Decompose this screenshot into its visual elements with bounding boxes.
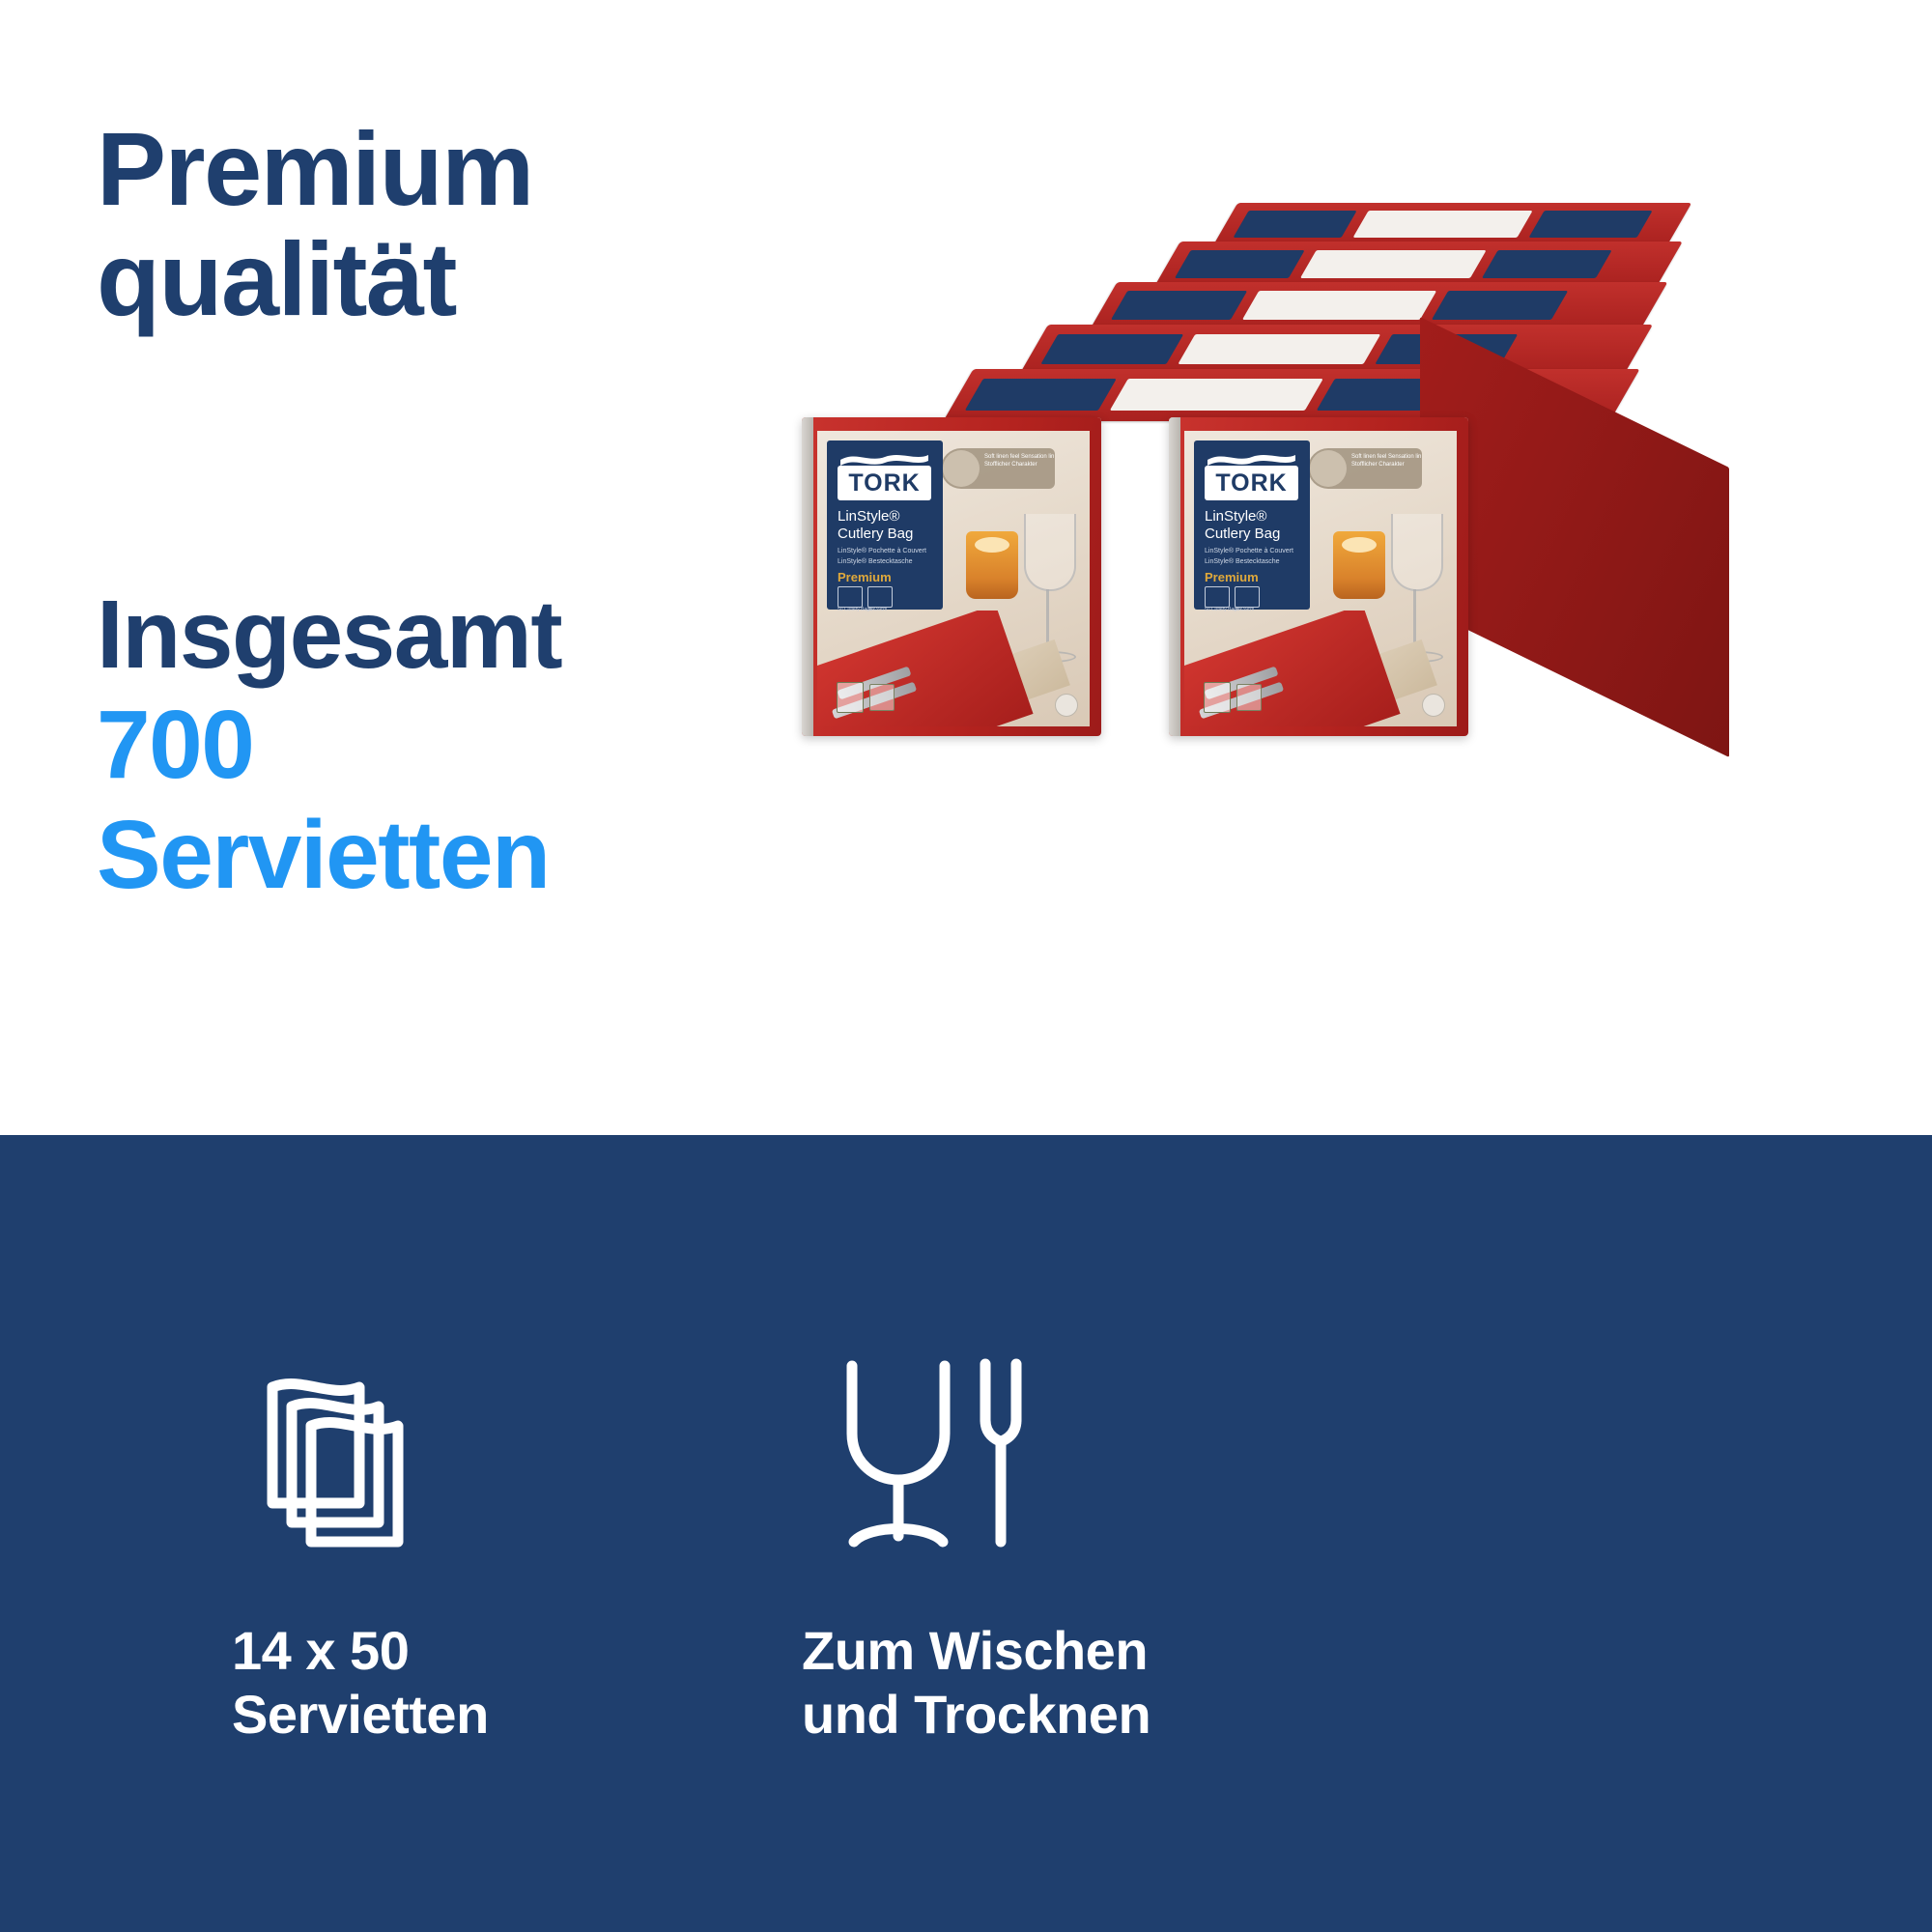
tork-logo: TORK <box>838 466 931 500</box>
feature-caption-1-line-1: 14 x 50 <box>232 1619 638 1683</box>
subheadline-count: 700 <box>97 690 831 800</box>
top-section: Premium qualität Insgesamt 700 Serviette… <box>0 0 1932 1135</box>
quality-tier-label: Premium <box>1205 570 1259 584</box>
candle-holder-image <box>966 531 1018 599</box>
subheadline-unit: Servietten <box>97 800 831 910</box>
bottom-feature-panel: 14 x 50 Servietten Zum <box>0 1135 1932 1932</box>
food-safe-icon <box>869 684 895 711</box>
tork-wave-icon <box>1206 450 1297 466</box>
headline-line-1: Premium <box>97 114 792 224</box>
opening-tab-icon <box>1055 694 1078 717</box>
quality-tier-label: Premium <box>838 570 892 584</box>
glass-bowl <box>1024 514 1076 591</box>
candle-holder-image <box>1333 531 1385 599</box>
food-safe-icon <box>1236 684 1262 711</box>
soft-linen-feel-badge: Soft linen feel Sensation lin Stoffliche… <box>941 448 1055 489</box>
product-line-label: LinStyle® <box>838 508 899 525</box>
box-lid-label <box>1111 291 1247 320</box>
box-row-top-4 <box>1153 241 1683 288</box>
tork-wave-icon <box>838 450 930 466</box>
box-lid-label <box>1233 211 1356 238</box>
hand-touch-icon <box>943 450 980 487</box>
subheadline-line-1: Insgesamt <box>97 580 831 690</box>
napkin-size-pictogram-icon <box>1235 586 1260 608</box>
napkin-stack-icon <box>232 1304 638 1555</box>
feature-caption-1: 14 x 50 Servietten <box>232 1619 638 1746</box>
box-lid-photo <box>1242 291 1436 320</box>
tork-logo: TORK <box>1205 466 1298 500</box>
box-row-top-2 <box>1019 325 1653 375</box>
box-spine <box>1169 417 1180 736</box>
box-lid-label <box>1528 211 1652 238</box>
feature-caption-2: Zum Wischen und Trocknen <box>802 1619 1207 1746</box>
pictogram-caption-2: 39x39cm <box>867 607 887 612</box>
product-bullet-2: LinStyle® Bestecktasche <box>1205 557 1280 566</box>
box-lid-photo <box>1178 334 1380 364</box>
feature-caption-2-line-2: und Trocknen <box>802 1683 1207 1747</box>
feature-row: 14 x 50 Servietten Zum <box>232 1304 1207 1746</box>
tork-label-panel: TORK LinStyle® Cutlery Bag LinStyle® Poc… <box>1194 440 1310 610</box>
box-lid-label <box>1175 250 1305 278</box>
box-lid-label <box>1040 334 1183 364</box>
product-line-label: LinStyle® <box>1205 508 1266 525</box>
subheadline-block: Insgesamt 700 Servietten <box>97 580 831 910</box>
product-bullet-1: LinStyle® Pochette à Couvert <box>1205 547 1293 555</box>
tork-label-panel: TORK LinStyle® Cutlery Bag LinStyle® Poc… <box>827 440 943 610</box>
feature-caption-1-line-2: Servietten <box>232 1683 638 1747</box>
badge-text: Soft linen feel Sensation lin Stoffliche… <box>984 453 1055 469</box>
soft-linen-feel-badge: Soft linen feel Sensation lin Stoffliche… <box>1308 448 1422 489</box>
box-lid-photo <box>1110 379 1323 411</box>
badge-text: Soft linen feel Sensation lin Stoffliche… <box>1351 453 1422 469</box>
box-lid-photo <box>1300 250 1487 278</box>
box-front-photo: Soft linen feel Sensation lin Stoffliche… <box>1184 431 1457 726</box>
glass-and-fork-icon <box>802 1304 1207 1555</box>
cutlery-pictogram-icon <box>838 586 863 608</box>
opening-tab-icon <box>1422 694 1445 717</box>
glass-bowl <box>1391 514 1443 591</box>
box-spine <box>802 417 813 736</box>
box-lid-photo <box>1352 211 1532 238</box>
box-lid-label <box>965 379 1117 411</box>
headline-block: Premium qualität <box>97 114 792 335</box>
fsc-logo-icon <box>1204 682 1231 713</box>
box-front-photo: Soft linen feel Sensation lin Stoffliche… <box>817 431 1090 726</box>
hand-touch-icon <box>1310 450 1347 487</box>
feature-caption-2-line-1: Zum Wischen <box>802 1619 1207 1683</box>
front-box-1: Soft linen feel Sensation lin Stoffliche… <box>802 417 1101 736</box>
feature-wipe-dry: Zum Wischen und Trocknen <box>802 1304 1207 1746</box>
box-row-top-3 <box>1090 282 1668 330</box>
product-type-label: Cutlery Bag <box>1205 526 1280 542</box>
product-image-box-stack: Soft linen feel Sensation lin Stoffliche… <box>792 203 1816 744</box>
box-lid-label <box>1482 250 1612 278</box>
box-lid-label <box>1432 291 1568 320</box>
feature-napkin-count: 14 x 50 Servietten <box>232 1304 638 1746</box>
product-bullet-2: LinStyle® Bestecktasche <box>838 557 913 566</box>
product-bullet-1: LinStyle® Pochette à Couvert <box>838 547 926 555</box>
product-type-label: Cutlery Bag <box>838 526 913 542</box>
fsc-logo-icon <box>837 682 864 713</box>
headline-line-2: qualität <box>97 224 792 334</box>
front-box-2: Soft linen feel Sensation lin Stoffliche… <box>1169 417 1468 736</box>
cutlery-pictogram-icon <box>1205 586 1230 608</box>
napkin-size-pictogram-icon <box>867 586 893 608</box>
pictogram-caption-2: 39x39cm <box>1235 607 1254 612</box>
